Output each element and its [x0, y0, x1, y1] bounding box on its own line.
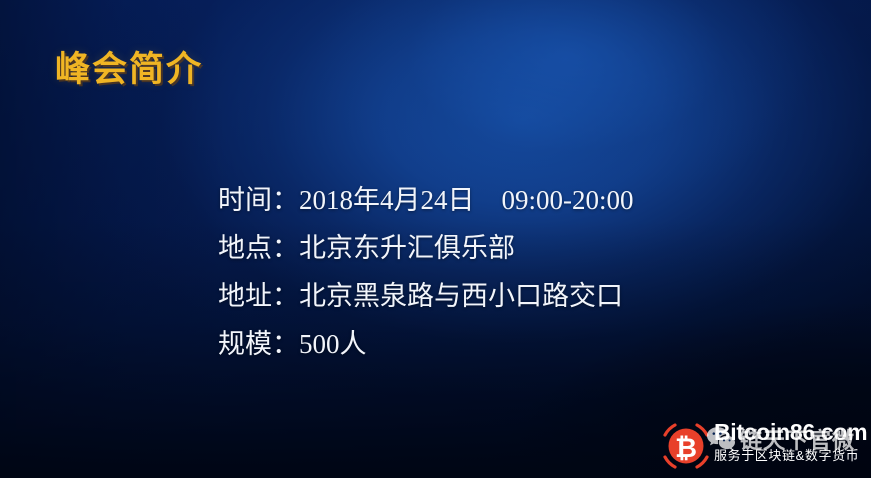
- summit-info-block: 时间：2018年4月24日 09:00-20:00 地点：北京东升汇俱乐部 地址…: [218, 176, 778, 368]
- info-line-address: 地址：北京黑泉路与西小口路交口: [218, 272, 778, 320]
- info-line-time: 时间：2018年4月24日 09:00-20:00: [218, 176, 778, 224]
- slide-canvas: 峰会简介 时间：2018年4月24日 09:00-20:00 地点：北京东升汇俱…: [0, 0, 871, 478]
- wechat-watermark: 链天下官微: [706, 423, 855, 455]
- bitcoin-symbol-glyph: ₿: [675, 433, 697, 463]
- wechat-icon: [706, 425, 736, 453]
- info-line-capacity: 规模：500人: [218, 320, 778, 368]
- watermark-label: 链天下官微: [740, 423, 855, 455]
- info-line-venue: 地点：北京东升汇俱乐部: [218, 224, 778, 272]
- page-title: 峰会简介: [55, 41, 203, 92]
